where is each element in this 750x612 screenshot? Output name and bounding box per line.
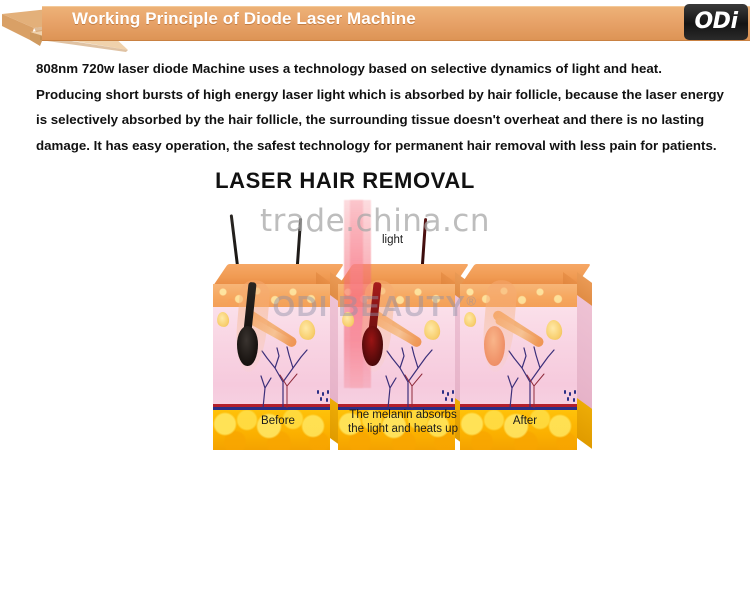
figure-title-text: LASER HAIR REMOVAL bbox=[215, 168, 475, 194]
skin-cross-section bbox=[460, 264, 592, 434]
odi-logo: ODi bbox=[684, 4, 748, 40]
header-banner: Working Principle of Diode Laser Machine… bbox=[0, 0, 750, 48]
nerve-endings bbox=[564, 390, 576, 404]
description-paragraph: 808nm 720w laser diode Machine uses a te… bbox=[36, 56, 726, 158]
nerve-endings bbox=[442, 390, 454, 404]
hair-follicle-empty bbox=[482, 282, 512, 382]
odi-logo-text: ODi bbox=[694, 11, 737, 33]
laser-hair-removal-diagram: Before light bbox=[0, 200, 750, 461]
hair-follicle-heated bbox=[360, 282, 390, 382]
figure-title: LASER HAIR REMOVAL bbox=[0, 168, 750, 194]
epidermis-cells bbox=[213, 284, 330, 308]
epidermis-cells bbox=[460, 284, 577, 308]
page-root: Working Principle of Diode Laser Machine… bbox=[0, 0, 750, 461]
hair-follicle bbox=[235, 282, 265, 382]
nerve-endings bbox=[317, 390, 329, 404]
dermis-side bbox=[577, 295, 592, 410]
page-title: Working Principle of Diode Laser Machine bbox=[72, 9, 416, 29]
light-label: light bbox=[382, 234, 403, 246]
diagram-panel-after: After bbox=[452, 200, 602, 461]
panel-caption: After bbox=[440, 414, 610, 428]
